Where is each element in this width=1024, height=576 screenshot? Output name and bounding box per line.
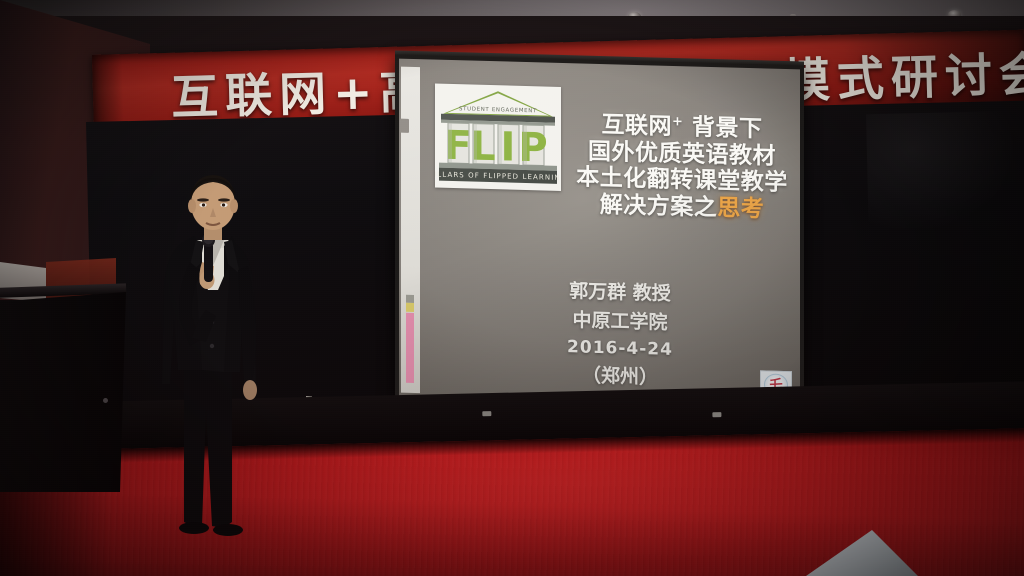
slide-subtitle-block: 郭万群 教授 中原工学院 2016-4-24 （郑州）	[455, 274, 785, 395]
sidebar-bar-pink	[406, 313, 414, 383]
projection-screen: STUDENT ENGAGEMENT F L I P	[399, 59, 800, 408]
stage-clip-icon	[482, 411, 491, 416]
slide-title-line-1-tail: 背景下	[683, 114, 762, 142]
lectern-knob-icon	[103, 398, 108, 403]
sidebar-bar-grey	[406, 295, 414, 303]
speaker-on-stage	[140, 170, 290, 550]
powerpoint-sidebar-strip	[401, 67, 420, 394]
logo-letter-i: I	[501, 124, 516, 170]
sidebar-bar-yellow	[406, 303, 414, 312]
banner-text-right: 模式研讨会	[782, 35, 1024, 111]
slide-title: 互联网+ 背景下 国外优质英语教材 本土化翻转课堂教学 解决方案之思考	[567, 111, 797, 224]
lectern	[0, 292, 126, 492]
slide-title-line-1-main: 互联网	[602, 112, 673, 140]
conference-photo-scene: 互联网+高 模式研讨会 STUDENT ENGAGEME	[0, 0, 1024, 576]
flip-logo-graphic: STUDENT ENGAGEMENT F L I P	[435, 84, 561, 191]
slide-title-line-4: 解决方案之思考	[567, 191, 797, 224]
flip-pillars-logo: STUDENT ENGAGEMENT F L I P	[435, 84, 561, 191]
speaker-figure	[140, 170, 290, 550]
slide-title-superscript: +	[672, 114, 683, 129]
backdrop-sheen	[866, 111, 1019, 234]
logo-letter-p: P	[518, 125, 547, 172]
stage-clip-icon	[712, 412, 721, 417]
slide-title-highlight: 思考	[717, 195, 764, 222]
sidebar-tab-icon	[400, 119, 409, 133]
slide-title-line-4-main: 解决方案之	[600, 192, 718, 221]
